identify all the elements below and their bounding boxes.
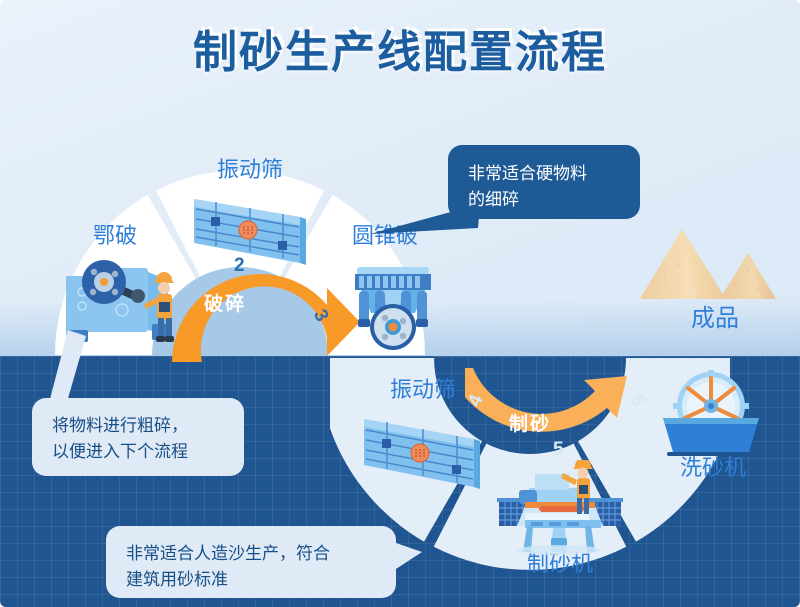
cone-crusher-note-text: 非常适合硬物料 的细碎 [468, 161, 620, 214]
sand-making-machine-icon [495, 460, 625, 555]
sand-making-note: 非常适合人造沙生产，符合 建筑用砂标准 [106, 526, 396, 598]
jaw-crusher-note-text: 将物料进行粗碎， 以便进入下个流程 [52, 413, 224, 466]
crushing-arc [155, 270, 365, 365]
vibrating-screen-icon-top [188, 185, 310, 281]
sand-washer-icon [655, 370, 767, 460]
vibrating-screen-icon-bottom [358, 405, 486, 505]
sandmaking-step-number-5: 5 [553, 439, 564, 461]
crushing-label-vibrating-screen: 振动筛 [190, 152, 310, 184]
sand-making-note-text: 非常适合人造沙生产，符合 建筑用砂标准 [126, 541, 376, 594]
page-title: 制砂生产线配置流程 [0, 16, 800, 80]
sandmaking-label-vibrating-screen: 振动筛 [363, 372, 483, 404]
cone-crusher-note: 非常适合硬物料 的细碎 [448, 145, 640, 219]
sand-pile-icon [640, 225, 790, 307]
crushing-hub-label: 破碎 [180, 289, 270, 316]
jaw-crusher-note: 将物料进行粗碎， 以便进入下个流程 [32, 398, 244, 476]
infographic-canvas: 制砂生产线配置流程 破碎 1 2 3 鄂破 振动筛 圆锥破 [0, 0, 800, 607]
product-label: 成品 [665, 298, 765, 333]
cone-crusher-icon [345, 255, 441, 355]
sandmaking-hub-label: 制砂 [485, 409, 575, 436]
crushing-label-jaw-crusher: 鄂破 [60, 218, 170, 250]
